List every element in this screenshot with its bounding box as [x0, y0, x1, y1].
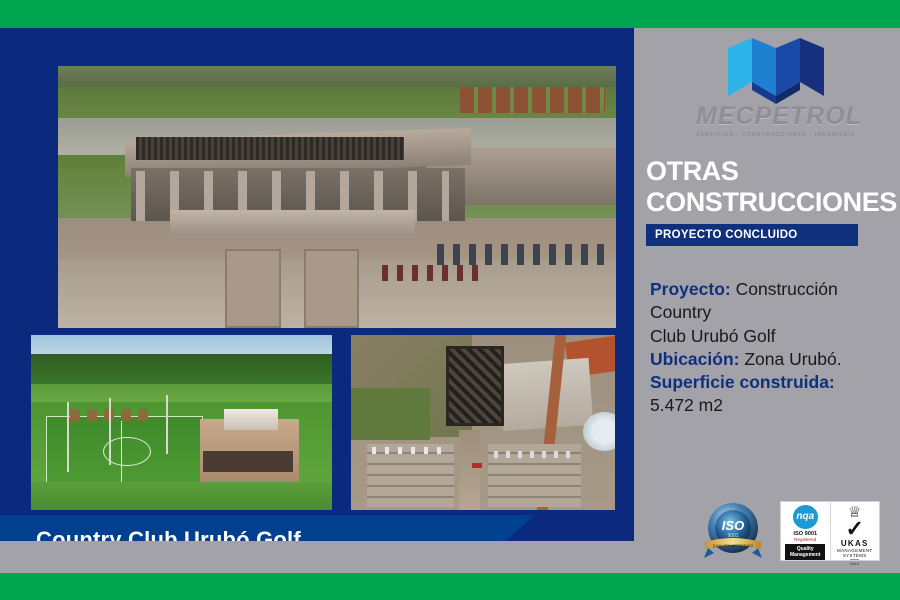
- nqa-ukas-certificate-mark: nqa ISO 9001 Registered Quality Manageme…: [780, 501, 880, 561]
- slide-canvas: Country Club Urubó Golf MECPETROL SERVIC…: [0, 0, 900, 600]
- ukas-subtitle: MANAGEMENT SYSTEMS: [831, 548, 880, 559]
- project-details: Proyecto: Construcción Country Club Urub…: [650, 278, 896, 418]
- detail-superficie-label: Superficie construida:: [650, 371, 896, 394]
- detail-proyecto-line3: Club Urubó Golf: [650, 325, 896, 348]
- nqa-logo-icon: nqa: [793, 505, 818, 529]
- photo-roof-structure: [136, 137, 404, 161]
- svg-text:QUALITY CERTIFIED: QUALITY CERTIFIED: [713, 544, 754, 548]
- photo-ramp-right: [304, 249, 360, 328]
- photo-foreground-fence: [31, 482, 332, 510]
- main-photo: [58, 66, 616, 328]
- bottom-right-photo: [351, 335, 615, 510]
- check-mark-icon: ✓: [846, 520, 864, 539]
- nqa-registered: Registered: [794, 537, 816, 542]
- detail-proyecto-label: Proyecto:: [650, 279, 731, 299]
- svg-text:ISO: ISO: [722, 518, 744, 533]
- detail-proyecto-line2: Country: [650, 301, 896, 324]
- bottom-green-bar: [0, 573, 900, 600]
- ukas-number: 0013: [850, 559, 859, 566]
- logo-tagline: SERVICIOS • CONSTRUCCIONES • INGENIERÍA: [696, 132, 856, 138]
- photo-tennis-courts: [460, 87, 605, 113]
- caption-title: Country Club Urubó Golf: [36, 527, 301, 541]
- detail-proyecto-line: Proyecto: Construcción: [650, 278, 896, 301]
- photo-thatched-huts: [70, 409, 154, 421]
- photo-light-pole: [166, 395, 168, 455]
- photo-parked-cars-lower: [382, 265, 482, 281]
- detail-ubicacion-line: Ubicación: Zona Urubó.: [650, 348, 896, 371]
- mecpetrol-m-logo-icon: [718, 34, 834, 106]
- caption-band: Country Club Urubó Golf: [0, 515, 634, 541]
- photo-green-area: [351, 388, 430, 441]
- ukas-name: UKAS: [841, 539, 869, 548]
- heading-line-2: CONSTRUCCIONES: [646, 187, 897, 218]
- heading-line-1: OTRAS: [646, 156, 739, 187]
- detail-proyecto-value: Construcción: [736, 279, 838, 299]
- detail-ubicacion-value: Zona Urubó.: [744, 349, 841, 369]
- photo-clubhouse-shade: [203, 451, 293, 472]
- photo-driveway: [459, 430, 480, 511]
- photo-light-pole: [67, 402, 69, 472]
- bottom-left-photo: [31, 335, 332, 510]
- company-logo: MECPETROL SERVICIOS • CONSTRUCCIONES • I…: [696, 34, 856, 144]
- certification-badges: ISO 9001 QUALITY CERTIFIED nqa ISO 9001 …: [702, 496, 892, 568]
- photo-circular-structure: [583, 412, 615, 451]
- nqa-scope: Quality Management: [785, 544, 825, 561]
- photo-red-car: [472, 463, 482, 468]
- photo-light-pole: [109, 398, 111, 465]
- ukas-panel: ♕ ✓ UKAS MANAGEMENT SYSTEMS 0013: [831, 502, 880, 560]
- info-panel: MECPETROL SERVICIOS • CONSTRUCCIONES • I…: [634, 28, 900, 573]
- photo-roof-framework: [446, 346, 504, 427]
- photo-concrete-slab: [170, 210, 416, 236]
- photo-cars-left: [372, 447, 446, 454]
- logo-wordmark: MECPETROL: [696, 102, 856, 131]
- detail-ubicacion-label: Ubicación:: [650, 349, 739, 369]
- photo-ramp-left: [225, 249, 281, 328]
- status-badge: PROYECTO CONCLUIDO: [646, 224, 858, 246]
- iso-seal-icon: ISO 9001 QUALITY CERTIFIED: [702, 500, 764, 562]
- caption-diagonal-accent: [474, 515, 634, 541]
- detail-superficie-value: 5.472 m2: [650, 394, 896, 417]
- nqa-panel: nqa ISO 9001 Registered Quality Manageme…: [781, 502, 831, 560]
- photo-panel: Country Club Urubó Golf: [0, 28, 634, 541]
- top-green-bar: [0, 0, 900, 28]
- photo-parked-cars: [437, 244, 604, 265]
- photo-cars-right: [494, 451, 573, 458]
- photo-clubhouse-upper: [224, 409, 278, 430]
